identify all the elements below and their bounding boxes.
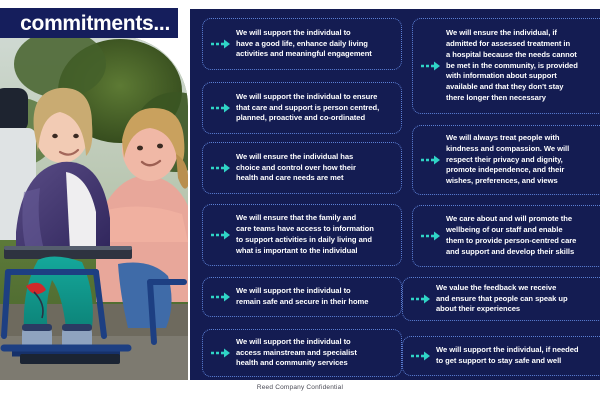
commitments-column-right: We will ensure the individual, if admitt… [402, 9, 600, 380]
commitments-columns: We will support the individual to have a… [190, 9, 600, 380]
commitments-column-left: We will support the individual to have a… [190, 9, 395, 380]
commitments-panel: We will support the individual to have a… [190, 9, 600, 380]
page-title: commitments... [20, 13, 170, 34]
commitment-text: We will support the individual, if neede… [436, 345, 600, 367]
slide-canvas: commitments... [0, 0, 600, 400]
dashed-arrow-icon [211, 291, 231, 303]
dashed-arrow-icon [211, 38, 231, 50]
dashed-arrow-icon [211, 102, 231, 114]
commitment-text: We value the feedback we receive and ens… [436, 283, 600, 315]
commitment-item[interactable]: We will ensure that the family and care … [202, 204, 402, 266]
carer-and-child-photo [0, 36, 188, 380]
commitment-item[interactable]: We will support the individual to access… [202, 329, 402, 377]
commitment-item[interactable]: We will support the individual to ensure… [202, 82, 402, 134]
commitment-text: We will support the individual to have a… [236, 28, 395, 60]
commitment-item[interactable]: We will ensure the individual, if admitt… [412, 18, 600, 114]
left-photo-panel: commitments... [0, 0, 188, 380]
commitment-text: We will support the individual to remain… [236, 286, 395, 308]
dashed-arrow-icon [211, 162, 231, 174]
commitment-text: We will ensure that the family and care … [236, 213, 395, 256]
commitment-text: We will ensure the individual, if admitt… [446, 28, 600, 103]
commitment-text: We will support the individual to ensure… [236, 92, 395, 124]
commitment-item[interactable]: We value the feedback we receive and ens… [402, 277, 600, 321]
commitment-item[interactable]: We will support the individual, if neede… [402, 336, 600, 376]
dashed-arrow-icon [411, 350, 431, 362]
confidentiality-footer: Reed Company Confidential [0, 384, 600, 391]
slide-title-banner: commitments... [0, 8, 178, 38]
dashed-arrow-icon [421, 230, 441, 242]
dashed-arrow-icon [421, 154, 441, 166]
dashed-arrow-icon [211, 229, 231, 241]
dashed-arrow-icon [421, 60, 441, 72]
dashed-arrow-icon [411, 293, 431, 305]
commitment-item[interactable]: We will support the individual to remain… [202, 277, 402, 317]
commitment-text: We care about and will promote the wellb… [446, 214, 600, 257]
commitment-item[interactable]: We will ensure the individual has choice… [202, 142, 402, 194]
commitment-item[interactable]: We care about and will promote the wellb… [412, 205, 600, 267]
commitment-text: We will support the individual to access… [236, 337, 395, 369]
commitment-item[interactable]: We will support the individual to have a… [202, 18, 402, 70]
dashed-arrow-icon [211, 347, 231, 359]
commitment-text: We will ensure the individual has choice… [236, 152, 395, 184]
commitment-item[interactable]: We will always treat people with kindnes… [412, 125, 600, 195]
commitment-text: We will always treat people with kindnes… [446, 133, 600, 187]
